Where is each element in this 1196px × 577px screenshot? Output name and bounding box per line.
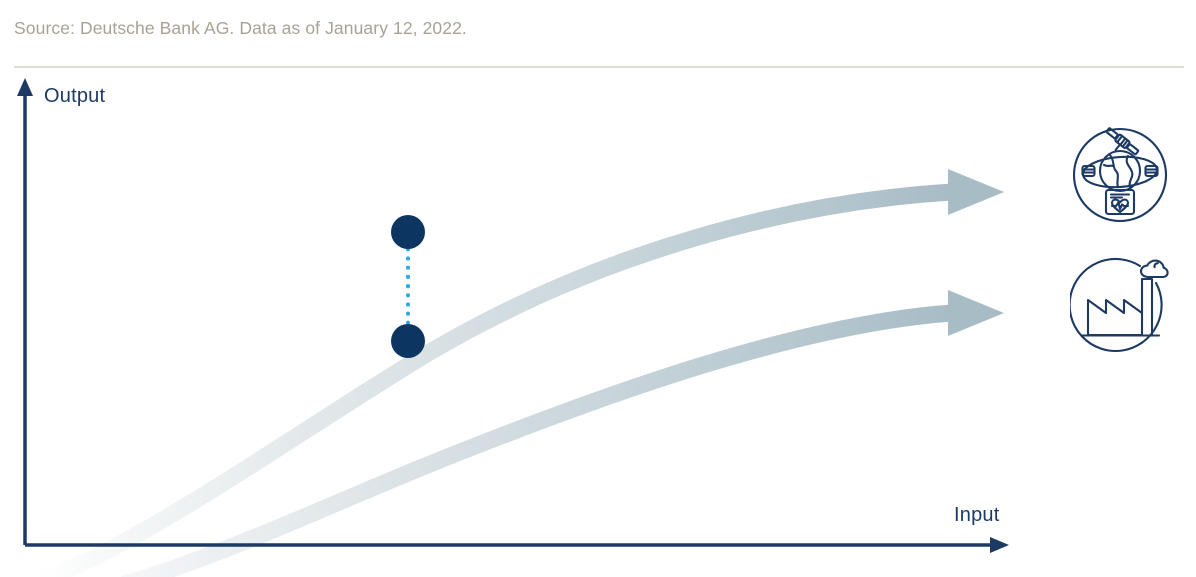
x-axis-arrowhead bbox=[990, 537, 1009, 553]
factory-smokestack-icon bbox=[1070, 255, 1170, 355]
lower-curve-marker[interactable] bbox=[391, 324, 425, 358]
industrial-curve-arrowhead bbox=[948, 290, 1004, 336]
technology-globe-satellite-icon bbox=[1070, 125, 1170, 225]
upper-curve-marker[interactable] bbox=[391, 215, 425, 249]
series-band-industrial bbox=[42, 290, 1004, 577]
x-axis-label: Input bbox=[954, 504, 999, 527]
chart-area: Output Input bbox=[0, 70, 1196, 577]
sector-icon-legend bbox=[1070, 125, 1172, 355]
chart-graphic bbox=[0, 70, 1196, 577]
source-note: Source: Deutsche Bank AG. Data as of Jan… bbox=[14, 17, 467, 39]
header-divider bbox=[14, 66, 1184, 68]
y-axis-label: Output bbox=[44, 85, 105, 108]
slide-canvas: Source: Deutsche Bank AG. Data as of Jan… bbox=[0, 0, 1196, 577]
technology-curve-arrowhead bbox=[948, 169, 1004, 215]
series-band-technology bbox=[38, 169, 1004, 577]
y-axis-arrowhead bbox=[17, 78, 33, 96]
